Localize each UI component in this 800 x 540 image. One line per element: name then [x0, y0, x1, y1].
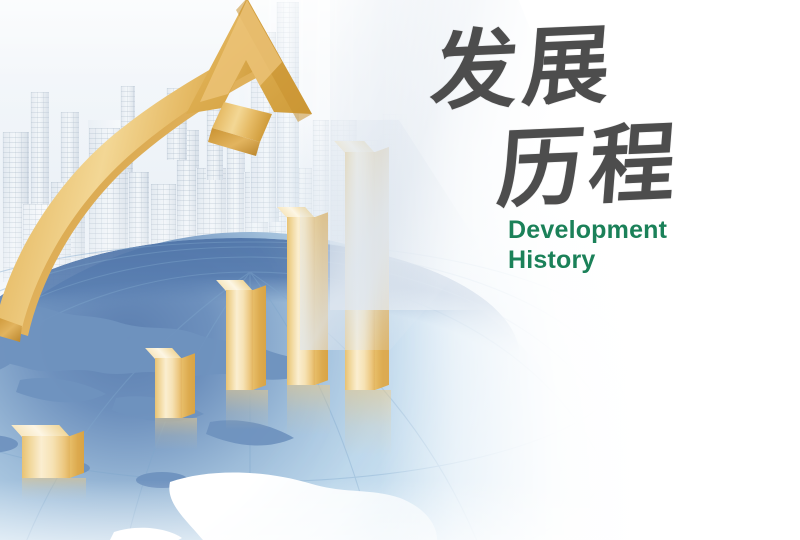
title-english-line-2: History [508, 244, 596, 276]
title-chinese-line-1: 发展 [428, 22, 618, 116]
banner-image: 发展 历程 Development History [0, 0, 800, 540]
bar-1 [22, 436, 70, 478]
title-english-line-1: Development [508, 214, 667, 246]
growth-arrow-icon [0, 0, 380, 360]
title-chinese-line-2: 历程 [494, 120, 684, 214]
bar-2 [155, 358, 182, 418]
